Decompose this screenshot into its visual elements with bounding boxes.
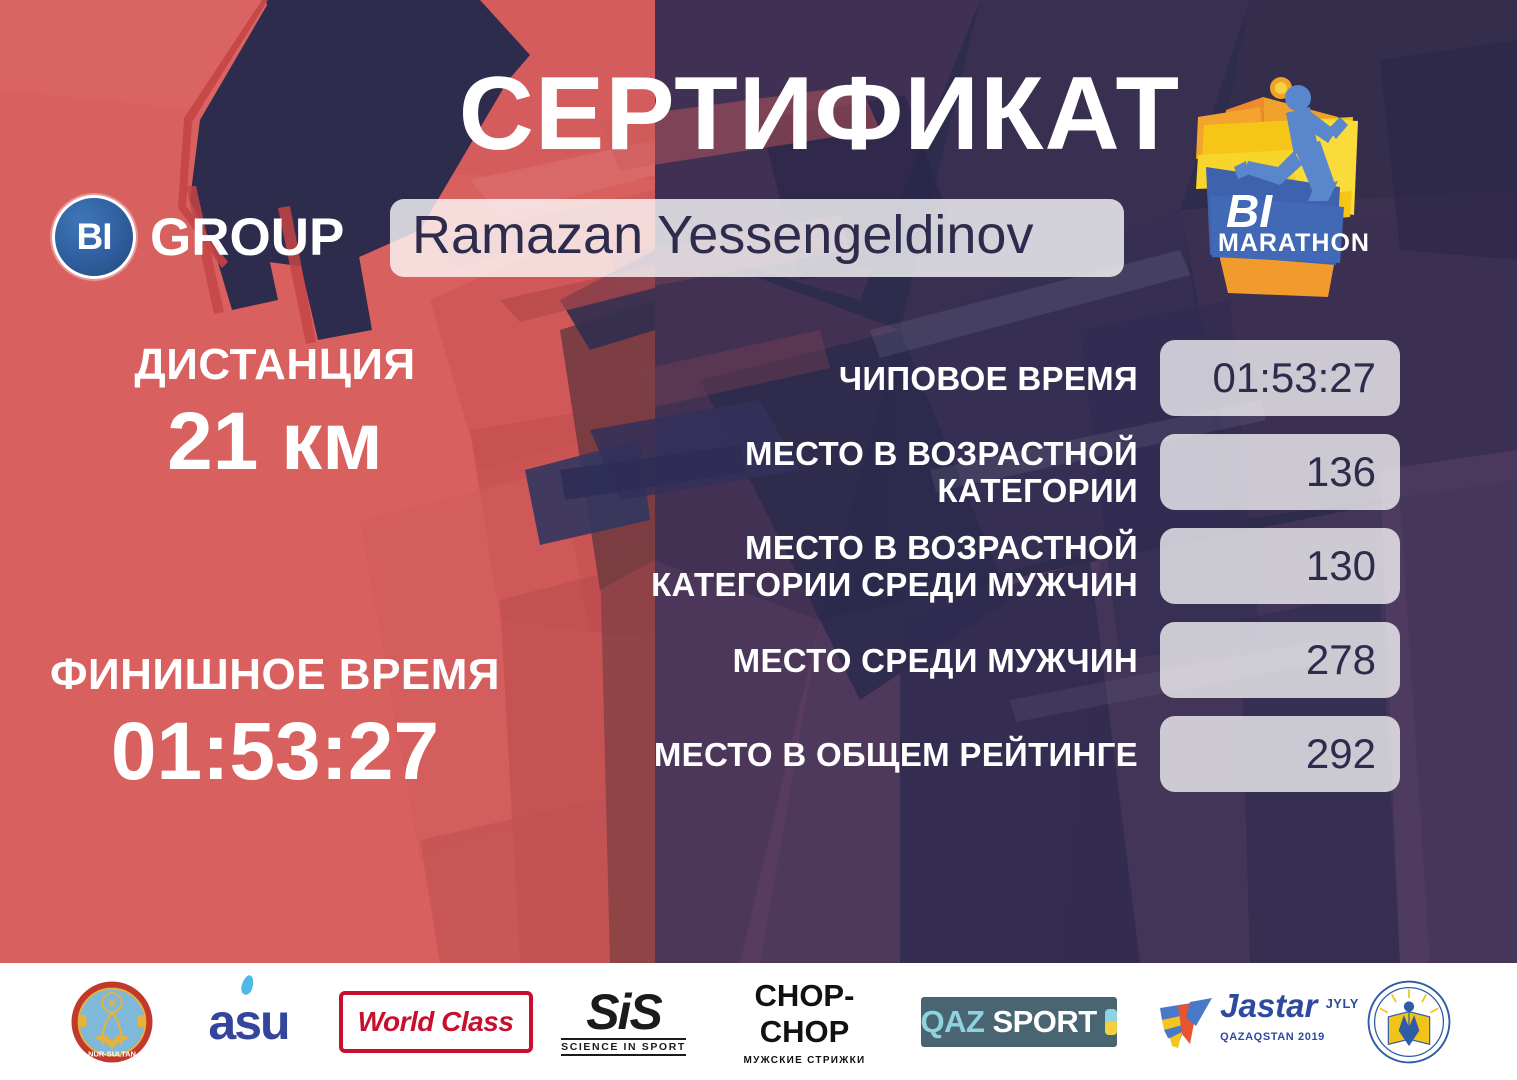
asu-logo-icon: asu [185,977,313,1067]
chip-time-label: ЧИПОВОЕ ВРЕМЯ [600,360,1160,397]
finish-time-label: ФИНИШНОЕ ВРЕМЯ [40,650,510,700]
marathon-logo-line2: MARATHON [1218,229,1370,257]
chop-chop-tagline: МУЖСКИЕ СТРИЖКИ [715,1055,895,1066]
qazsport-square-icon [1105,1009,1117,1035]
bi-marathon-logo-icon: BI MARATHON [1168,55,1398,305]
place-overall-label: МЕСТО В ОБЩЕМ РЕЙТИНГЕ [600,736,1160,773]
nur-sultan-emblem-icon: NUR-SULTAN [65,977,159,1067]
chip-time-value: 01:53:27 [1160,340,1400,416]
place-age-category-men-label: МЕСТО В ВОЗРАСТНОЙ КАТЕГОРИИ СРЕДИ МУЖЧИ… [600,529,1160,603]
bi-badge-icon: BI [52,195,136,279]
page-title: СЕРТИФИКАТ [0,62,1180,166]
bi-group-logo: BI GROUP [52,195,344,279]
result-row: ЧИПОВОЕ ВРЕМЯ 01:53:27 [600,340,1400,416]
finish-time-value: 01:53:27 [40,706,510,798]
results-list: ЧИПОВОЕ ВРЕМЯ 01:53:27 МЕСТО В ВОЗРАСТНО… [600,340,1400,810]
certificate-canvas: СЕРТИФИКАТ BI GROUP Ramazan Yessengeldin… [0,0,1517,1080]
chop-chop-logo-icon: CHOP-CHOP МУЖСКИЕ СТРИЖКИ [715,977,895,1067]
sis-logo-icon: SiS SCIENCE IN SPORT [559,977,689,1067]
jastar-jyly-logo-icon: Jastar JYLY QAZAQSTAN 2019 [1143,977,1339,1067]
world-class-wordmark: World Class [339,991,533,1053]
sis-wordmark: SiS [561,988,686,1036]
sponsor-bar: NUR-SULTAN asu World Class SiS SCIENCE I… [0,963,1517,1080]
place-age-category-men-value: 130 [1160,528,1400,604]
place-men-label: МЕСТО СРЕДИ МУЖЧИН [600,642,1160,679]
qazsport-sport-text: SPORT [992,1004,1096,1040]
nur-sultan-text: NUR-SULTAN [88,1049,136,1058]
jastar-jyly-text: JYLY [1326,989,1359,1019]
place-age-category-value: 136 [1160,434,1400,510]
chop-chop-wordmark: CHOP-CHOP [715,978,895,1050]
result-row: МЕСТО В ВОЗРАСТНОЙ КАТЕГОРИИ 136 [600,434,1400,510]
ministry-emblem-icon [1365,977,1453,1067]
sis-tagline: SCIENCE IN SPORT [561,1038,686,1056]
place-overall-value: 292 [1160,716,1400,792]
distance-value: 21 км [40,396,510,488]
asu-wordmark: asu [208,993,288,1051]
result-row: МЕСТО В ВОЗРАСТНОЙ КАТЕГОРИИ СРЕДИ МУЖЧИ… [600,528,1400,604]
result-row: МЕСТО В ОБЩЕМ РЕЙТИНГЕ 292 [600,716,1400,792]
result-row: МЕСТО СРЕДИ МУЖЧИН 278 [600,622,1400,698]
place-age-category-label: МЕСТО В ВОЗРАСТНОЙ КАТЕГОРИИ [600,435,1160,509]
qazsport-logo-icon: QAZ SPORT [921,977,1117,1067]
bi-group-wordmark: GROUP [150,207,344,268]
jastar-bird-icon [1156,992,1216,1052]
qazsport-qaz-text: QAZ [921,1004,985,1040]
athlete-name: Ramazan Yessengeldinov [390,199,1124,277]
jastar-subtext: QAZAQSTAN 2019 [1220,1022,1325,1052]
world-class-logo-icon: World Class [339,977,533,1067]
place-men-value: 278 [1160,622,1400,698]
jastar-wordmark: Jastar [1220,987,1317,1024]
jastar-wordmark-wrap: Jastar JYLY QAZAQSTAN 2019 [1220,991,1325,1052]
finish-time-block: ФИНИШНОЕ ВРЕМЯ 01:53:27 [40,650,510,798]
distance-block: ДИСТАНЦИЯ 21 км [40,340,510,488]
distance-label: ДИСТАНЦИЯ [40,340,510,390]
